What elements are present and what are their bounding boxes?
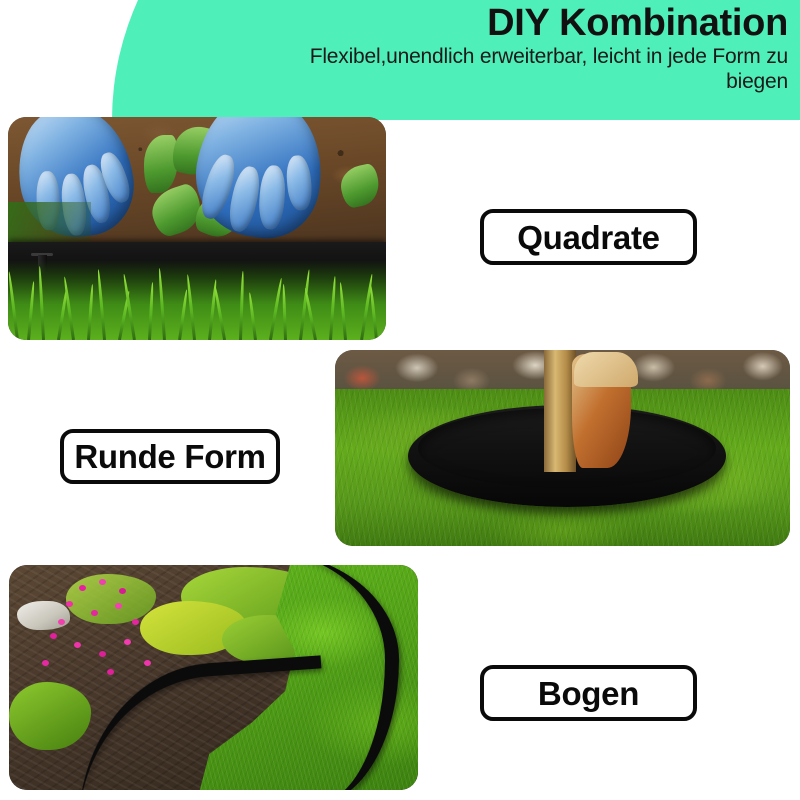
shrub [9, 682, 91, 750]
product-infographic-page: DIY Kombination Flexibel,unendlich erwei… [0, 0, 800, 800]
label-runde-form-text: Runde Form [74, 440, 265, 473]
label-quadrate[interactable]: Quadrate [480, 209, 697, 265]
flower [50, 633, 57, 639]
label-bogen[interactable]: Bogen [480, 665, 697, 721]
photo-circular-edging [335, 350, 790, 546]
flower [91, 610, 98, 616]
flower [99, 579, 106, 585]
page-subtitle: Flexibel,unendlich erweiterbar, leicht i… [300, 44, 788, 94]
label-bogen-text: Bogen [538, 677, 639, 710]
foreground-lawn [8, 260, 386, 340]
photo-curved-edging [9, 565, 418, 790]
flower [119, 588, 126, 594]
decorative-stone [17, 601, 70, 630]
flower [79, 585, 86, 591]
flower [74, 642, 81, 648]
tree-branch-stub [574, 352, 638, 387]
flower [42, 660, 49, 666]
page-title: DIY Kombination [300, 2, 788, 44]
flower [124, 639, 131, 645]
flower [107, 669, 114, 675]
label-runde-form[interactable]: Runde Form [60, 429, 280, 484]
photo-planting-seedlings [8, 117, 386, 340]
header-text-block: DIY Kombination Flexibel,unendlich erwei… [300, 2, 788, 94]
flower [99, 651, 106, 657]
label-quadrate-text: Quadrate [517, 221, 659, 254]
